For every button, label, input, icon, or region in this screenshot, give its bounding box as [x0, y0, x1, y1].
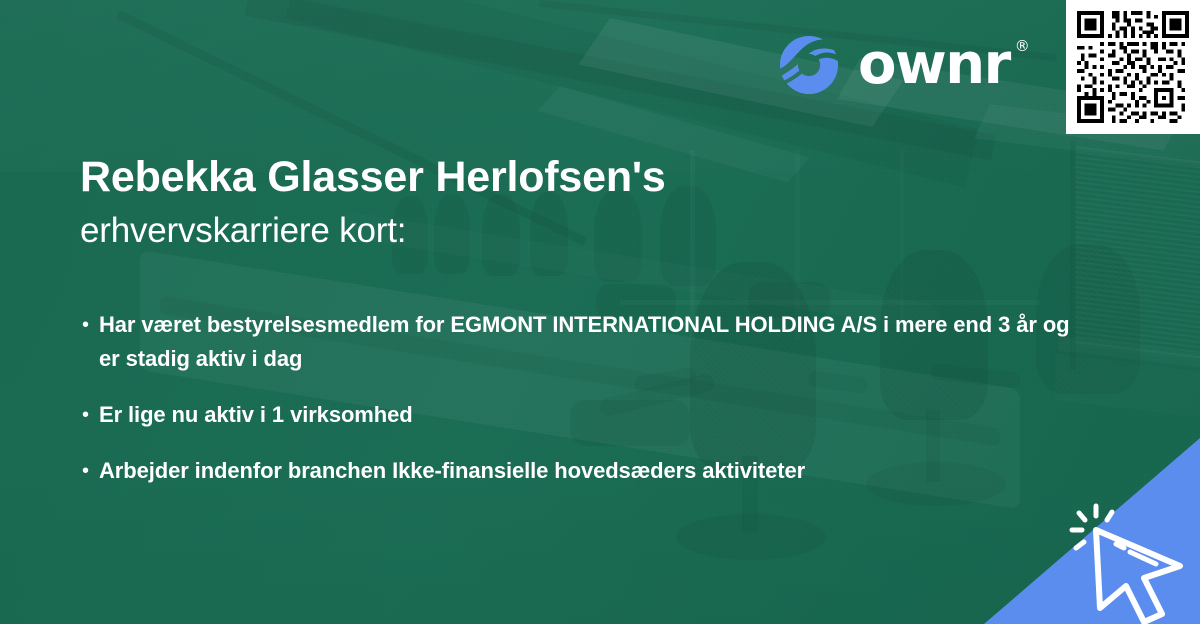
qr-code-panel[interactable] — [1066, 0, 1200, 134]
list-item: • Har været bestyrelsesmedlem for EGMONT… — [82, 308, 1092, 376]
ownr-wordmark: ownr® — [858, 37, 1010, 93]
list-item-text: Arbejder indenfor branchen Ikke-finansie… — [99, 454, 805, 488]
bullet-marker-icon: • — [82, 398, 99, 432]
headline-line-2: erhvervskarriere kort: — [80, 213, 666, 248]
bullet-marker-icon: • — [82, 454, 99, 488]
list-item: • Arbejder indenfor branchen Ikke-finans… — [82, 454, 1092, 488]
list-item-text: Er lige nu aktiv i 1 virksomhed — [99, 398, 413, 432]
headline: Rebekka Glasser Herlofsen's erhvervskarr… — [80, 156, 666, 248]
bullet-marker-icon: • — [82, 308, 99, 342]
ownr-wordmark-text: ownr — [858, 32, 1010, 97]
ownr-logo[interactable]: ownr® — [778, 34, 1010, 96]
registered-trademark-icon: ® — [1015, 39, 1030, 54]
corner-accent-graphic — [984, 438, 1200, 624]
qr-code-icon[interactable] — [1077, 11, 1189, 123]
list-item: • Er lige nu aktiv i 1 virksomhed — [82, 398, 1092, 432]
ownr-circle-swoosh-icon — [778, 34, 840, 96]
corner-triangle — [984, 438, 1200, 624]
career-card: ownr® — [0, 0, 1200, 624]
headline-line-1: Rebekka Glasser Herlofsen's — [80, 156, 666, 199]
list-item-text: Har været bestyrelsesmedlem for EGMONT I… — [99, 308, 1092, 376]
career-facts-list: • Har været bestyrelsesmedlem for EGMONT… — [82, 308, 1092, 488]
